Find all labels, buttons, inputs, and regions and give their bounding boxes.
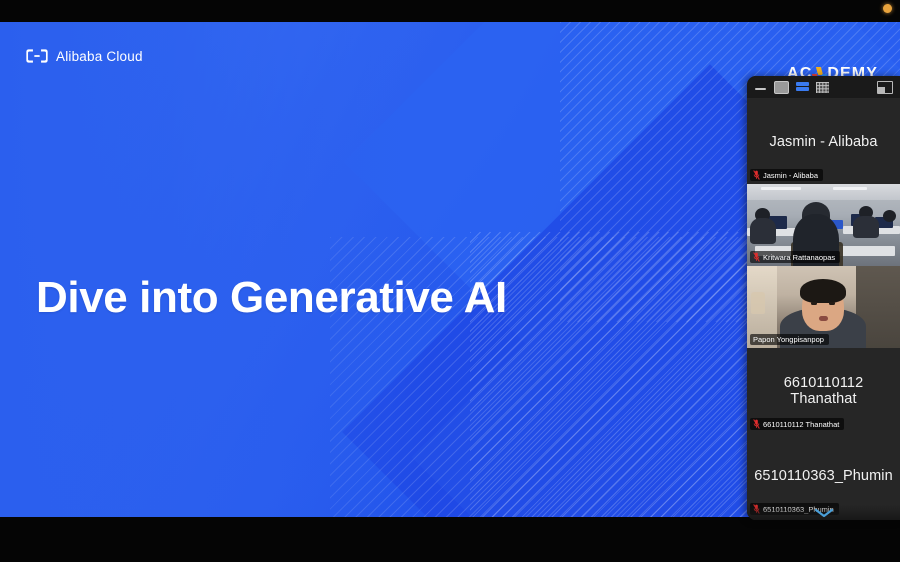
mic-muted-icon	[753, 170, 760, 180]
participant-name-label: 6610110112 Thanathat	[763, 420, 839, 429]
panel-view-toolbar[interactable]	[747, 76, 900, 99]
slide-title: Dive into Generative AI	[36, 273, 507, 323]
participant-filmstrip-panel[interactable]: Jasmin - Alibaba Jasmin - Alibaba	[747, 76, 900, 520]
mic-muted-icon	[753, 252, 760, 262]
participant-tile-active-speaker[interactable]: Papon Yongpisanpop	[747, 266, 900, 348]
mic-muted-icon	[753, 419, 760, 429]
participant-name-badge: Papon Yongpisanpop	[750, 334, 829, 345]
participant-tile[interactable]: Kritwara Rattanaopas	[747, 184, 900, 266]
sidebar-view-icon[interactable]	[796, 82, 809, 93]
participant-name-badge: 6610110112 Thanathat	[750, 418, 844, 430]
participant-name-badge: Jasmin - Alibaba	[750, 169, 823, 181]
participant-list[interactable]: Jasmin - Alibaba Jasmin - Alibaba	[747, 99, 900, 520]
participant-display-name: 6510110363_Phumin	[748, 468, 899, 484]
speaker-view-icon[interactable]	[774, 81, 789, 94]
participant-name-label: Papon Yongpisanpop	[753, 335, 824, 344]
meeting-screen: Alibaba Cloud AC DEMY Dive into Generati…	[0, 0, 900, 562]
participant-display-name: 6610110112 Thanathat	[747, 375, 900, 407]
participant-name-label: Kritwara Rattanaopas	[763, 253, 835, 262]
participant-display-name: Jasmin - Alibaba	[764, 134, 884, 150]
screen-share-indicator-dot	[883, 4, 892, 13]
minimize-icon[interactable]	[754, 82, 767, 93]
alibaba-cloud-brand-label: Alibaba Cloud	[56, 49, 143, 64]
participant-name-badge: Kritwara Rattanaopas	[750, 251, 840, 263]
chevron-down-icon	[815, 509, 833, 518]
participant-name-label: Jasmin - Alibaba	[763, 171, 818, 180]
gallery-grid-view-icon[interactable]	[816, 82, 829, 93]
participant-tile[interactable]: Jasmin - Alibaba Jasmin - Alibaba	[747, 99, 900, 184]
alibaba-cloud-brand: Alibaba Cloud	[26, 48, 143, 64]
slide-bg-left-fade	[0, 22, 430, 517]
scroll-down-button[interactable]	[747, 505, 900, 520]
picture-in-picture-icon[interactable]	[877, 81, 893, 94]
alibaba-cloud-logo-icon	[26, 48, 48, 64]
participant-tile[interactable]: 6610110112 Thanathat 6610110112 Thanatha…	[747, 348, 900, 433]
